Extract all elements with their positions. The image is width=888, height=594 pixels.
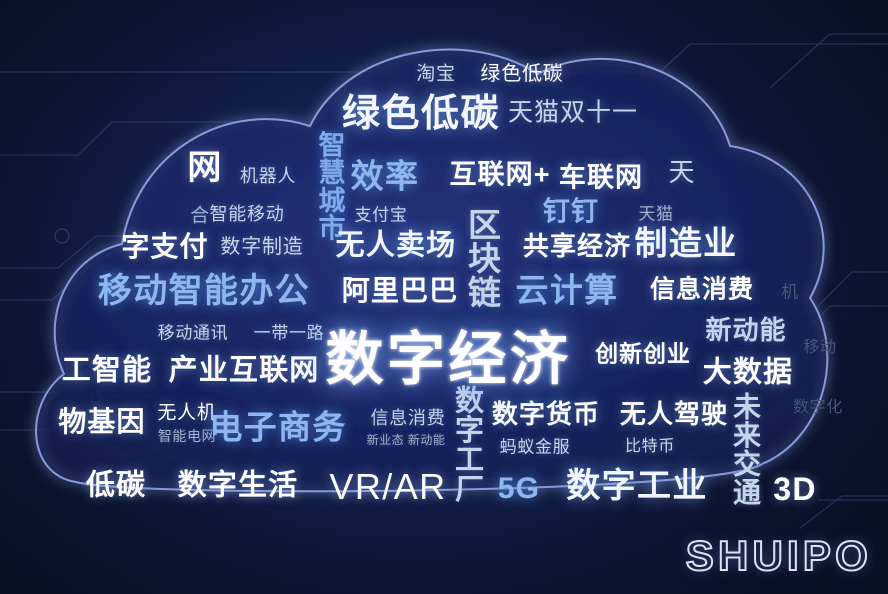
word-cloud-term: 电子商务 <box>209 411 346 444</box>
word-cloud-term: 移动 <box>803 340 836 356</box>
word-cloud-term: 机器人 <box>240 167 296 185</box>
word-cloud-term: VR/AR <box>329 469 446 505</box>
word-cloud-term: 淘宝 <box>416 65 456 84</box>
word-cloud-term: 创新创业 <box>595 343 691 366</box>
word-cloud-term: 移动智能办公 <box>98 274 310 308</box>
word-cloud-term: 智慧城市 <box>316 131 343 241</box>
word-cloud-term: 钉钉 <box>543 199 599 226</box>
word-cloud-term: 共享经济 <box>523 233 631 259</box>
word-cloud-term: 新业态 新动能 <box>367 434 446 446</box>
word-cloud-term: 5G <box>498 474 540 504</box>
word-cloud-term: 数字工厂 <box>452 385 481 503</box>
word-cloud-term: 移动通讯 <box>158 325 229 342</box>
word-cloud-term: 比特币 <box>625 439 675 455</box>
digital-economy-word-cloud-image: 淘宝绿色低碳绿色低碳天猫双十一网机器人智慧城市效率互联网+车联网天合智能移动支付… <box>0 0 888 594</box>
word-cloud-term: 合 <box>190 207 210 226</box>
word-cloud-term: 数字生活 <box>178 472 299 501</box>
word-cloud-term: 制造业 <box>635 227 738 260</box>
word-cloud-term: 字支付 <box>121 233 208 261</box>
word-cloud-term: 绿色低碳 <box>342 95 500 133</box>
word-cloud-term: 信息消费 <box>650 278 754 303</box>
word-cloud-term: 智能移动 <box>210 205 285 223</box>
word-cloud-term: 数字制造 <box>220 237 303 257</box>
word-cloud-term: 阿里巴巴 <box>342 277 458 305</box>
word-cloud-term: 网 <box>187 151 222 185</box>
word-cloud-terms: 淘宝绿色低碳绿色低碳天猫双十一网机器人智慧城市效率互联网+车联网天合智能移动支付… <box>0 0 888 594</box>
headline-digital-economy: 数字经济 <box>325 312 571 396</box>
word-cloud-term: 物基因 <box>58 408 145 436</box>
word-cloud-term: 无人机 <box>157 404 216 423</box>
word-cloud-term: 支付宝 <box>354 207 407 224</box>
word-cloud-term: 新动能 <box>705 317 786 343</box>
word-cloud-term: 信息消费 <box>371 409 446 427</box>
word-cloud-term: 机 <box>781 284 799 301</box>
word-cloud-term: 智能电网 <box>158 429 216 443</box>
word-cloud-term: 效率 <box>351 160 420 193</box>
word-cloud-term: 数字货币 <box>492 401 600 427</box>
word-cloud-term: 数字工业 <box>566 469 707 503</box>
word-cloud-term: 绿色低碳 <box>480 64 563 84</box>
word-cloud-term: 工智能 <box>62 357 152 386</box>
word-cloud-term: 天 <box>668 159 695 185</box>
word-cloud-term: 区块链 <box>466 208 499 309</box>
word-cloud-term: 互联网+ <box>449 162 550 189</box>
word-cloud-term: 无人卖场 <box>336 232 457 261</box>
word-cloud-term: 产业互联网 <box>169 357 320 386</box>
word-cloud-term: 车联网 <box>559 165 643 192</box>
word-cloud-term: 大数据 <box>703 359 793 388</box>
word-cloud-term: 数字化 <box>793 400 843 416</box>
word-cloud-term: 一带一路 <box>254 325 325 342</box>
watermark-shuipo: SHUIPO <box>686 532 872 580</box>
word-cloud-term: 云计算 <box>516 274 619 307</box>
word-cloud-term: 无人驾驶 <box>620 401 728 427</box>
word-cloud-term: 蚂蚁金服 <box>500 439 571 456</box>
word-cloud-term: 低碳 <box>86 472 146 501</box>
word-cloud-term: 天猫 <box>638 206 673 223</box>
word-cloud-term: 3D <box>773 473 816 505</box>
word-cloud-term: 天猫双十一 <box>508 101 638 126</box>
word-cloud-term: 未来交通 <box>731 392 759 506</box>
